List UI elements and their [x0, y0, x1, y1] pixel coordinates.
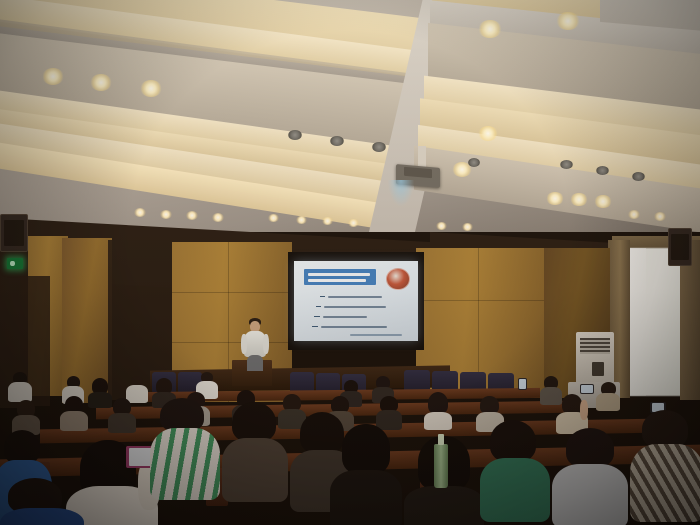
- wall-speaker: [0, 214, 28, 252]
- ceiling-speaker: [288, 130, 302, 140]
- slide-bullet: [312, 324, 404, 329]
- audience-member-foreground: [150, 398, 216, 498]
- slide-title-line-2: [308, 279, 366, 282]
- ac-control-panel: [592, 362, 604, 376]
- slide-title-banner: [304, 269, 376, 285]
- downlight: [436, 222, 447, 230]
- ceiling-speaker: [372, 142, 386, 152]
- audience-member: [8, 372, 32, 400]
- wall-speaker-right: [668, 228, 692, 266]
- ceiling-speaker: [468, 158, 480, 167]
- downlight: [556, 12, 580, 30]
- downlight: [42, 68, 64, 85]
- lecture-hall-photo: Audience seated in a wood-paneled audito…: [0, 0, 700, 525]
- downlight: [462, 223, 473, 231]
- ac-grill: [580, 338, 610, 354]
- downlight: [268, 214, 279, 222]
- audience-member-foreground: [330, 424, 400, 525]
- audience-member: [596, 382, 620, 410]
- downlight: [654, 212, 666, 221]
- audience-member: [108, 398, 136, 432]
- audience-member-foreground: [480, 420, 548, 520]
- water-bottle: [434, 444, 448, 488]
- ceiling-speaker: [560, 160, 573, 169]
- audience-member-foreground: [630, 410, 700, 520]
- downlight: [140, 80, 162, 97]
- ceiling-speaker: [330, 136, 344, 146]
- audience-member-with-phone: [556, 392, 588, 432]
- wall-panel-seam: [172, 292, 292, 293]
- audience-member-foreground: [552, 428, 626, 525]
- wall-panel-seam: [172, 342, 292, 343]
- projection-screen: [294, 261, 418, 341]
- wall-panel-seam: [416, 300, 544, 301]
- downlight: [296, 216, 307, 224]
- presenter-arm-left: [241, 334, 247, 354]
- downlight: [134, 208, 146, 217]
- downlight: [570, 193, 588, 206]
- ceiling-speaker: [596, 166, 609, 175]
- ceiling: [0, 0, 700, 232]
- downlight: [478, 126, 498, 141]
- downlight: [348, 219, 359, 227]
- smartphone[interactable]: [580, 384, 594, 394]
- audience-member: [424, 392, 452, 428]
- seat: [290, 372, 314, 392]
- slide-portrait-photo: [386, 268, 410, 290]
- downlight: [90, 74, 112, 91]
- slide-footer-line: [350, 334, 402, 336]
- projector-mount: [418, 146, 426, 168]
- ceiling-speaker: [632, 172, 645, 181]
- slide-bullet: [316, 304, 402, 309]
- slide-title-line-1: [308, 273, 370, 276]
- presenter-arm-right: [263, 334, 269, 354]
- downlight: [594, 195, 612, 208]
- projector-light-beam: [388, 180, 414, 206]
- audience-member-foreground: [222, 402, 286, 498]
- downlight: [322, 217, 333, 225]
- exit-sign-icon: [7, 258, 23, 269]
- audience-member-foreground: [0, 478, 80, 525]
- audience-member: [60, 396, 88, 430]
- downlight: [546, 192, 564, 205]
- audience-member: [12, 400, 40, 434]
- slide-bullet: [314, 314, 402, 319]
- downlight: [186, 211, 198, 220]
- downlight: [212, 213, 224, 222]
- smartphone[interactable]: [518, 378, 527, 390]
- downlight: [160, 210, 172, 219]
- slide-bullet: [320, 294, 400, 299]
- downlight: [628, 210, 640, 219]
- presenter: [240, 318, 270, 370]
- downlight: [478, 20, 502, 38]
- presenter-legs: [247, 355, 263, 371]
